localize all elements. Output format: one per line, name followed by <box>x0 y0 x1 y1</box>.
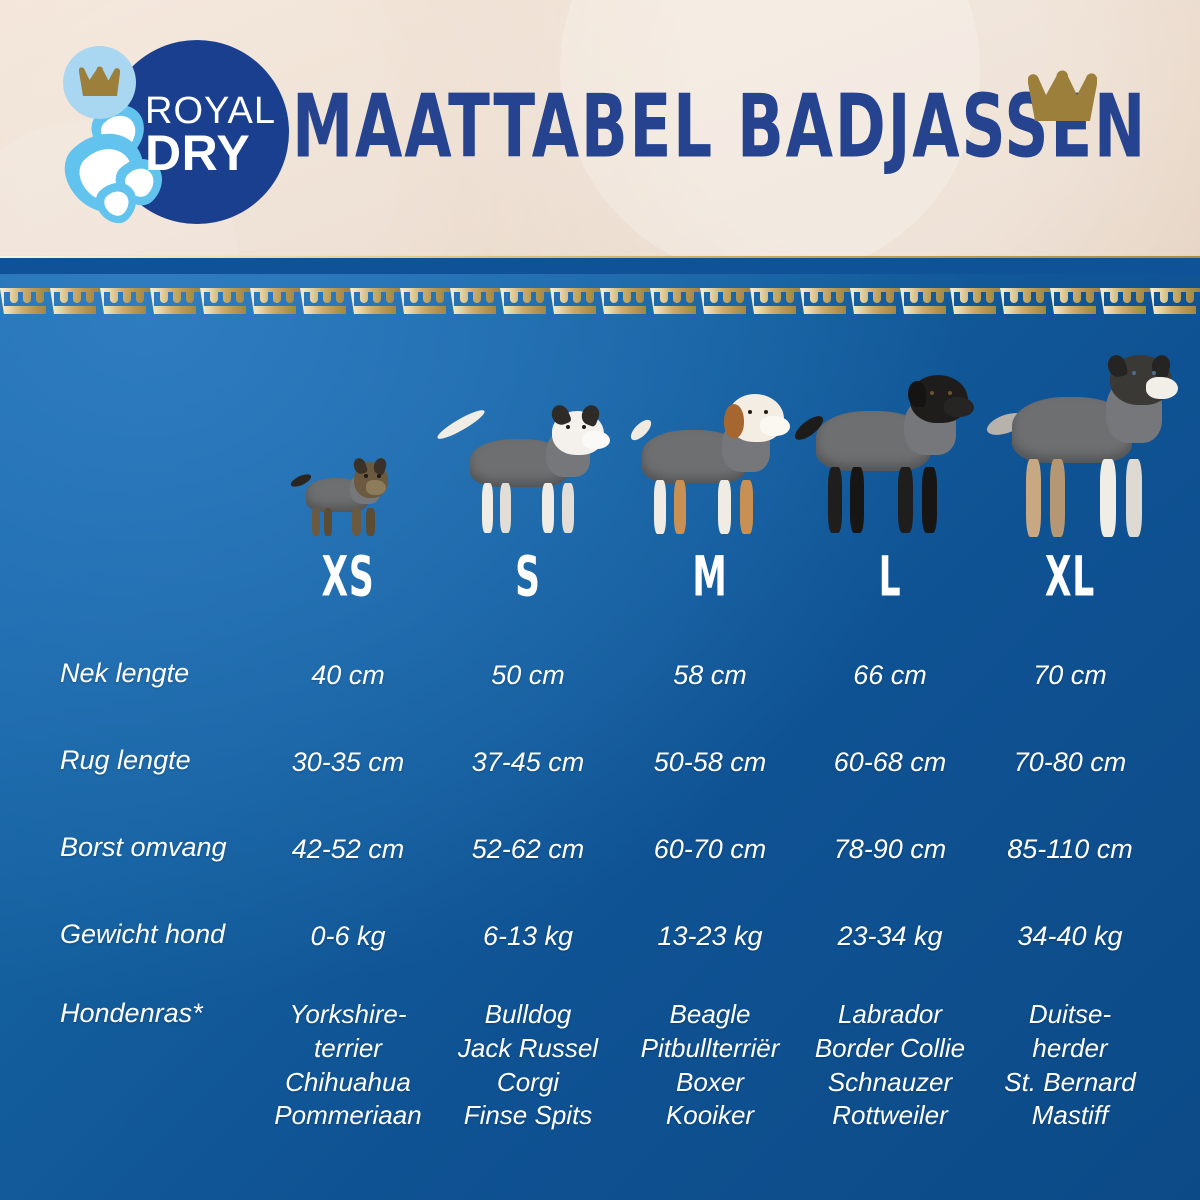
logo-crown-bubble <box>63 46 136 119</box>
title-crown-icon <box>1023 69 1103 129</box>
cell-nek-s: 50 cm <box>433 658 623 693</box>
cell-nek-m: 58 cm <box>615 658 805 693</box>
cell-gewicht-s: 6-13 kg <box>433 919 623 954</box>
page-title: MAATTABEL BADJASSEN <box>300 72 1140 182</box>
row-label-hondenras: Hondenras* <box>60 998 203 1029</box>
cell-borst-m: 60-70 cm <box>615 832 805 867</box>
cell-gewicht-l: 23-34 kg <box>795 919 985 954</box>
cell-rug-m: 50-58 cm <box>615 745 805 780</box>
cell-borst-xs: 42-52 cm <box>253 832 443 867</box>
royal-dry-logo[interactable]: ROYAL DRY <box>45 28 280 228</box>
size-label-l: L <box>830 545 950 609</box>
size-label-m: M <box>650 545 770 609</box>
cell-ras-xl: Duitse-herderSt. BernardMastiff <box>975 998 1165 1133</box>
size-label-row: XS S M L XL <box>0 545 1200 603</box>
cell-ras-xs: Yorkshire-terrierChihuahuaPommeriaan <box>253 998 443 1133</box>
row-label-borst-omvang: Borst omvang <box>60 832 227 863</box>
size-chart-page: ROYAL DRY MAATTABEL BADJASSEN <box>0 0 1200 1200</box>
cell-rug-xs: 30-35 cm <box>253 745 443 780</box>
cell-borst-s: 52-62 cm <box>433 832 623 867</box>
size-label-xl: XL <box>1010 545 1130 609</box>
dog-s <box>430 405 620 540</box>
cell-nek-xl: 70 cm <box>975 658 1165 693</box>
cell-gewicht-xs: 0-6 kg <box>253 919 443 954</box>
size-label-xs: XS <box>288 545 408 609</box>
cell-gewicht-xl: 34-40 kg <box>975 919 1165 954</box>
cell-nek-l: 66 cm <box>795 658 985 693</box>
page-title-text: MAATTABEL BADJASSEN <box>293 76 1148 177</box>
dog-m <box>618 390 808 540</box>
cell-borst-l: 78-90 cm <box>795 832 985 867</box>
row-label-rug-lengte: Rug lengte <box>60 745 191 776</box>
header-banner: ROYAL DRY MAATTABEL BADJASSEN <box>0 0 1200 258</box>
cell-rug-l: 60-68 cm <box>795 745 985 780</box>
cell-gewicht-m: 13-23 kg <box>615 919 805 954</box>
logo-wordmark: ROYAL DRY <box>145 83 290 188</box>
row-label-nek-lengte: Nek lengte <box>60 658 189 689</box>
cell-nek-xs: 40 cm <box>253 658 443 693</box>
cell-rug-s: 37-45 cm <box>433 745 623 780</box>
row-label-gewicht-hond: Gewicht hond <box>60 919 225 950</box>
cell-rug-xl: 70-80 cm <box>975 745 1165 780</box>
cell-ras-m: BeaglePitbullterriërBoxerKooiker <box>615 998 805 1133</box>
dog-xs <box>288 450 408 540</box>
logo-text-dry: DRY <box>145 130 290 177</box>
cell-ras-s: BulldogJack RusselCorgiFinse Spits <box>433 998 623 1133</box>
gold-divider-band <box>0 256 1200 258</box>
size-label-s: S <box>468 545 588 609</box>
cell-borst-xl: 85-110 cm <box>975 832 1165 867</box>
dog-l <box>790 375 990 540</box>
dog-illustration-row <box>0 340 1200 540</box>
crown-scallop-border <box>0 288 1200 328</box>
crown-icon <box>76 66 124 100</box>
dog-xl <box>986 355 1196 540</box>
cell-ras-l: LabradorBorder CollieSchnauzerRottweiler <box>795 998 985 1133</box>
